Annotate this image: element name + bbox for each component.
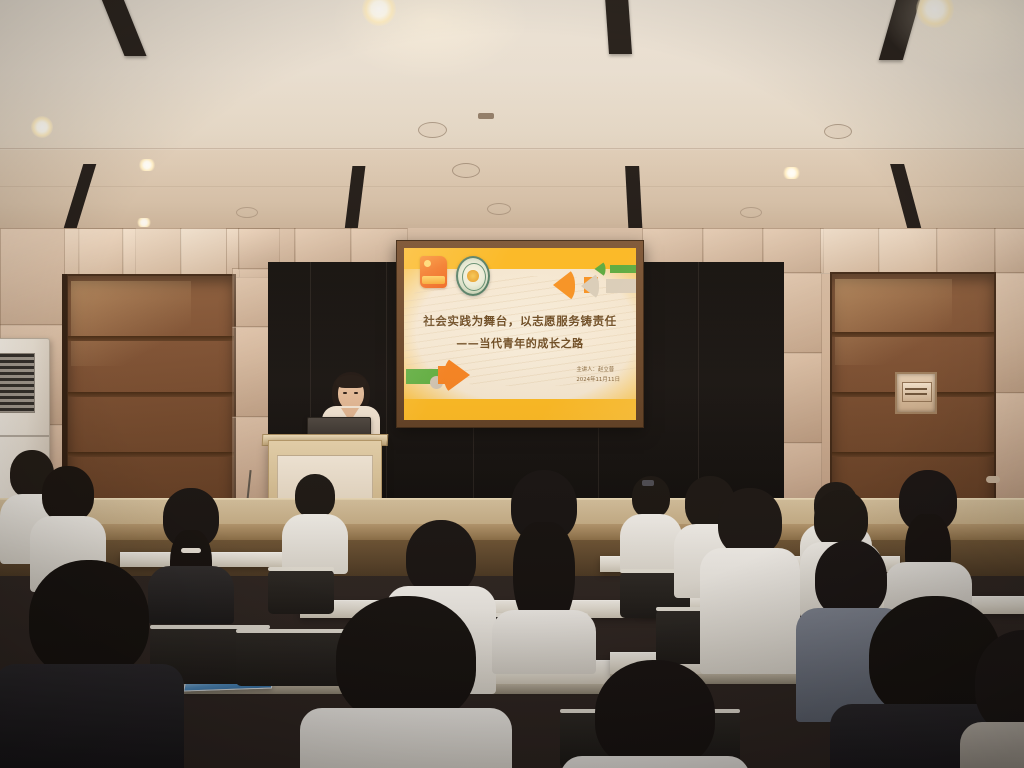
alcove-highlight (71, 281, 191, 366)
wall-control-box[interactable] (895, 372, 937, 414)
audience-person (700, 488, 800, 670)
person-head (975, 630, 1024, 736)
ceiling-strip-icon (879, 0, 921, 60)
ceiling-light-ring-icon (236, 207, 258, 218)
slide-presenter: 主讲人：赵立普 (576, 365, 620, 375)
audience-person (620, 476, 682, 570)
person-torso (960, 722, 1024, 768)
ceiling-light-ring-icon (418, 122, 447, 138)
flag-band (422, 276, 445, 284)
person-head (595, 660, 715, 768)
ceiling-light-ring-icon (740, 207, 762, 218)
audience-person (0, 560, 184, 768)
alcove-slat (68, 452, 234, 457)
person-head (29, 560, 149, 678)
red-flag-badge-icon (420, 256, 447, 288)
ceiling-light-icon (782, 167, 801, 179)
wall-panel (994, 228, 1024, 274)
chair-rail (268, 567, 334, 571)
ceiling-light-ring-icon (452, 163, 480, 178)
slide-subtitle: ——当代青年的成长之路 (404, 335, 636, 351)
wall-panel (936, 228, 996, 274)
person-torso (700, 548, 800, 674)
slide-date: 2024年11月11日 (576, 375, 620, 385)
ceiling-light-icon (362, 0, 396, 26)
alcove-slat (68, 392, 234, 397)
presenter-fringe (336, 375, 366, 388)
ac-grill-icon (0, 353, 35, 413)
person-torso (0, 664, 184, 768)
presenter-eye (343, 392, 347, 394)
person-torso (282, 514, 348, 574)
slide-meta: 主讲人：赵立普 2024年11月11日 (576, 365, 620, 385)
audience-person (960, 630, 1024, 768)
ceiling-seam (0, 148, 1024, 149)
audience-person (560, 660, 750, 768)
lecture-hall-photo: 社会实践为舞台，以志愿服务铸责任 ——当代青年的成长之路 主讲人：赵立普 202… (0, 0, 1024, 768)
person-head (718, 488, 782, 556)
audience-person (282, 474, 348, 570)
ceiling (0, 0, 1024, 238)
person-torso (560, 756, 750, 768)
ceiling-light-icon (138, 159, 156, 171)
ceiling-light-icon (916, 0, 954, 28)
audience-person (300, 596, 512, 768)
alcove-slat (832, 332, 994, 337)
projected-slide: 社会实践为舞台，以志愿服务铸责任 ——当代青年的成长之路 主讲人：赵立普 202… (404, 248, 636, 420)
person-torso (300, 708, 512, 768)
wall-panel (994, 272, 1024, 394)
person-torso (620, 514, 682, 572)
wall-box-line (905, 393, 927, 395)
ceiling-light-icon (136, 218, 152, 227)
hair-tie-icon (181, 548, 201, 553)
hair-clip-icon (642, 480, 654, 486)
light-glow (330, 0, 530, 80)
ceiling-strip-icon (99, 0, 146, 56)
flag-star-icon (424, 260, 431, 267)
wall-panel (878, 228, 938, 274)
university-seal-icon (456, 256, 490, 296)
wall-box-line (905, 388, 927, 390)
wall-panel (122, 228, 182, 278)
ceiling-light-ring-icon (824, 124, 852, 139)
ac-seam (0, 435, 49, 437)
alcove-highlight (835, 279, 952, 365)
curtain-fold (386, 262, 387, 530)
ceiling-strip-icon (605, 0, 632, 54)
person-head (336, 596, 476, 724)
ceiling-light-ring-icon (487, 203, 511, 215)
person-head (42, 466, 94, 522)
person-head (295, 474, 335, 518)
wall-panel (820, 228, 880, 274)
ceiling-seam (0, 186, 1024, 187)
person-head (406, 520, 476, 596)
slide-title: 社会实践为舞台，以志愿服务铸责任 (404, 313, 636, 329)
door-handle-icon[interactable] (986, 476, 1000, 483)
ceiling-vent-icon (478, 113, 494, 119)
alcove-slat (68, 336, 234, 341)
projection-screen-frame: 社会实践为舞台，以志愿服务铸责任 ——当代青年的成长之路 主讲人：赵立普 202… (396, 240, 644, 428)
alcove-slat (832, 452, 994, 457)
wall-panel (64, 228, 124, 278)
presenter-eye (354, 392, 358, 394)
ceiling-light-icon (31, 116, 53, 138)
